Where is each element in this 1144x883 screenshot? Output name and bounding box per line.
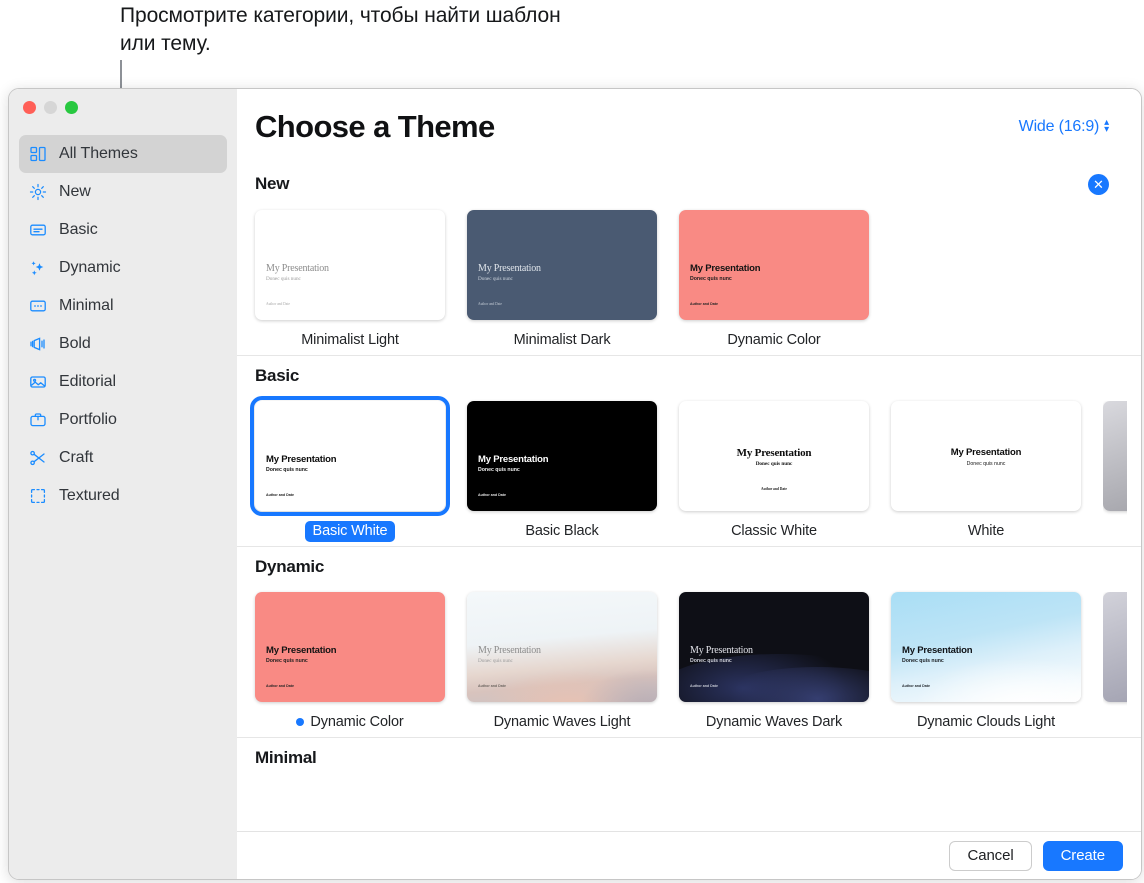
section-header-basic: Basic: [237, 355, 1141, 395]
theme-caption: White: [891, 520, 1081, 542]
slide-subtitle: Donec quis nunc: [891, 461, 1081, 467]
sidebar-item-portfolio[interactable]: Portfolio: [19, 401, 227, 439]
slide-title: My Presentation: [891, 447, 1081, 458]
sidebar-item-bold[interactable]: Bold: [19, 325, 227, 363]
theme-caption: Dynamic Waves Light: [467, 711, 657, 733]
sidebar-item-label: Craft: [59, 449, 93, 467]
theme-label: Dynamic Waves Dark: [706, 714, 842, 730]
sidebar-item-textured[interactable]: Textured: [19, 477, 227, 515]
slide-footer: Author and Date: [679, 487, 869, 491]
theme-card-partial[interactable]: [1103, 401, 1127, 542]
theme-thumbnail[interactable]: My Presentation Donec quis nunc Author a…: [679, 210, 869, 320]
theme-card[interactable]: My Presentation Donec quis nunc Author a…: [255, 210, 445, 351]
slide-title: My Presentation: [266, 263, 329, 274]
sidebar-item-label: Minimal: [59, 297, 113, 315]
section-title: Minimal: [255, 748, 317, 768]
crop-frame-icon: [28, 486, 48, 506]
section-header-dynamic: Dynamic: [237, 546, 1141, 586]
slide-subtitle: Donec quis nunc: [902, 658, 944, 664]
slide-footer: Author and Date: [891, 487, 1081, 491]
theme-label: Classic White: [731, 523, 817, 539]
slide-subtitle: Donec quis nunc: [266, 276, 301, 282]
cancel-button[interactable]: Cancel: [949, 841, 1031, 871]
sidebar-item-new[interactable]: New: [19, 173, 227, 211]
close-icon[interactable]: ✕: [1088, 174, 1109, 195]
dialog-footer: Cancel Create: [237, 831, 1141, 879]
slide-title: My Presentation: [478, 263, 541, 274]
theme-thumbnail[interactable]: My Presentation Donec quis nunc Author a…: [891, 592, 1081, 702]
theme-caption: Dynamic Color: [255, 711, 445, 733]
slide-title: My Presentation: [690, 645, 753, 656]
sidebar-item-label: Basic: [59, 221, 98, 239]
theme-label: Dynamic Waves Light: [494, 714, 631, 730]
slide-title: My Presentation: [690, 263, 760, 274]
theme-label-selected: Basic White: [305, 521, 396, 542]
sidebar-item-label: All Themes: [59, 145, 138, 163]
slide-footer: Author and Date: [266, 684, 294, 688]
theme-label: Dynamic Color: [310, 714, 403, 730]
aspect-ratio-value: Wide (16:9): [1019, 118, 1100, 136]
briefcase-icon: [28, 410, 48, 430]
theme-card[interactable]: My Presentation Donec quis nunc Author a…: [679, 210, 869, 351]
zoom-window-button[interactable]: [65, 101, 78, 114]
chevron-updown-icon: ▴▾: [1104, 120, 1109, 132]
section-header-new: New ✕: [237, 164, 1141, 204]
slide-subtitle: Donec quis nunc: [690, 658, 732, 664]
theme-scroll-area[interactable]: New ✕ My Presentation Donec quis nunc Au…: [237, 164, 1141, 831]
theme-label: Minimalist Light: [301, 332, 399, 348]
section-title: New: [255, 174, 289, 194]
sidebar: All Themes New Basic: [9, 89, 237, 879]
slide-title: My Presentation: [478, 645, 541, 656]
theme-caption: Basic Black: [467, 520, 657, 542]
slide-footer: Author and Date: [478, 493, 506, 497]
wave-decoration-2: [553, 649, 658, 702]
create-button[interactable]: Create: [1043, 841, 1123, 871]
theme-row-basic: My Presentation Donec quis nunc Author a…: [237, 395, 1141, 546]
theme-row-dynamic: My Presentation Donec quis nunc Author a…: [237, 586, 1141, 737]
slide-footer: Author and Date: [690, 302, 718, 306]
theme-card[interactable]: My Presentation Donec quis nunc Author a…: [679, 592, 869, 733]
sidebar-item-label: Dynamic: [59, 259, 121, 277]
slide-footer: Author and Date: [266, 493, 294, 497]
theme-thumbnail[interactable]: [1103, 401, 1127, 511]
callout-text: Просмотрите категории, чтобы найти шабло…: [120, 2, 590, 59]
theme-caption: Minimalist Dark: [467, 329, 657, 351]
theme-card[interactable]: My Presentation Donec quis nunc Author a…: [467, 592, 657, 733]
slide-subtitle: Donec quis nunc: [679, 461, 869, 467]
section-title: Dynamic: [255, 557, 324, 577]
theme-label: Dynamic Clouds Light: [917, 714, 1055, 730]
sidebar-item-editorial[interactable]: Editorial: [19, 363, 227, 401]
theme-caption: Dynamic Waves Dark: [679, 711, 869, 733]
slide-subtitle: Donec quis nunc: [478, 658, 513, 664]
theme-card[interactable]: My Presentation Donec quis nunc Author a…: [891, 401, 1081, 542]
slide-footer: Author and Date: [902, 684, 930, 688]
theme-thumbnail[interactable]: My Presentation Donec quis nunc Author a…: [467, 210, 657, 320]
theme-card[interactable]: My Presentation Donec quis nunc Author a…: [679, 401, 869, 542]
sidebar-item-label: Bold: [59, 335, 91, 353]
theme-label: White: [968, 523, 1004, 539]
theme-caption: Dynamic Color: [679, 329, 869, 351]
sparkles-icon: [28, 258, 48, 278]
photo-icon: [28, 372, 48, 392]
page-title: Choose a Theme: [255, 109, 495, 145]
sidebar-item-label: New: [59, 183, 91, 201]
sidebar-item-basic[interactable]: Basic: [19, 211, 227, 249]
theme-thumbnail[interactable]: My Presentation Donec quis nunc Author a…: [679, 592, 869, 702]
theme-label: Dynamic Color: [727, 332, 820, 348]
theme-thumbnail[interactable]: My Presentation Donec quis nunc Author a…: [679, 401, 869, 511]
rectangle-lines-icon: [28, 220, 48, 240]
scissors-icon: [28, 448, 48, 468]
sidebar-item-label: Portfolio: [59, 411, 117, 429]
theme-label: Minimalist Dark: [514, 332, 611, 348]
theme-card[interactable]: My Presentation Donec quis nunc Author a…: [255, 401, 445, 542]
theme-thumbnail[interactable]: My Presentation Donec quis nunc Author a…: [467, 592, 657, 702]
theme-browser: Choose a Theme Wide (16:9) ▴▾ New ✕ My P…: [237, 89, 1141, 879]
theme-card[interactable]: My Presentation Donec quis nunc Author a…: [891, 592, 1081, 733]
sidebar-item-minimal[interactable]: Minimal: [19, 287, 227, 325]
sidebar-item-label: Editorial: [59, 373, 116, 391]
slide-title: My Presentation: [679, 447, 869, 459]
slide-subtitle: Donec quis nunc: [690, 276, 732, 282]
theme-thumbnail[interactable]: My Presentation Donec quis nunc Author a…: [255, 592, 445, 702]
theme-caption: Classic White: [679, 520, 869, 542]
slide-subtitle: Donec quis nunc: [266, 467, 308, 473]
theme-thumbnail[interactable]: [1103, 592, 1127, 702]
sidebar-item-all-themes[interactable]: All Themes: [19, 135, 227, 173]
rectangle-dots-icon: [28, 296, 48, 316]
theme-card[interactable]: My Presentation Donec quis nunc Author a…: [467, 210, 657, 351]
theme-card[interactable]: My Presentation Donec quis nunc Author a…: [255, 592, 445, 733]
sidebar-item-label: Textured: [59, 487, 120, 505]
slide-title: My Presentation: [266, 454, 336, 465]
theme-thumbnail[interactable]: My Presentation Donec quis nunc Author a…: [891, 401, 1081, 511]
sidebar-item-craft[interactable]: Craft: [19, 439, 227, 477]
aspect-ratio-selector[interactable]: Wide (16:9) ▴▾: [1019, 118, 1109, 136]
theme-card-partial[interactable]: [1103, 592, 1127, 733]
theme-caption: Minimalist Light: [255, 329, 445, 351]
slide-subtitle: Donec quis nunc: [266, 658, 308, 664]
theme-card[interactable]: My Presentation Donec quis nunc Author a…: [467, 401, 657, 542]
theme-chooser-window: All Themes New Basic: [8, 88, 1142, 880]
slide-footer: Author and Date: [690, 684, 718, 688]
slide-subtitle: Donec quis nunc: [478, 467, 520, 473]
close-window-button[interactable]: [23, 101, 36, 114]
current-theme-dot-icon: [296, 718, 304, 726]
theme-thumbnail[interactable]: My Presentation Donec quis nunc Author a…: [467, 401, 657, 511]
theme-caption: Basic White: [255, 520, 445, 542]
slide-footer: Author and Date: [478, 302, 502, 306]
slide-title: My Presentation: [478, 454, 548, 465]
section-title: Basic: [255, 366, 299, 386]
sidebar-item-dynamic[interactable]: Dynamic: [19, 249, 227, 287]
section-header-minimal: Minimal: [237, 737, 1141, 777]
megaphone-icon: [28, 334, 48, 354]
theme-thumbnail[interactable]: My Presentation Donec quis nunc Author a…: [255, 401, 445, 511]
slide-footer: Author and Date: [266, 302, 290, 306]
minimize-window-button[interactable]: [44, 101, 57, 114]
theme-thumbnail[interactable]: My Presentation Donec quis nunc Author a…: [255, 210, 445, 320]
main-header: Choose a Theme Wide (16:9) ▴▾: [237, 89, 1141, 164]
window-traffic-lights: [23, 101, 78, 114]
slide-footer: Author and Date: [478, 684, 506, 688]
slide-subtitle: Donec quis nunc: [478, 276, 513, 282]
theme-caption: Dynamic Clouds Light: [891, 711, 1081, 733]
slide-title: My Presentation: [902, 645, 972, 656]
theme-label: Basic Black: [525, 523, 598, 539]
theme-row-new: My Presentation Donec quis nunc Author a…: [237, 204, 1141, 355]
slide-title: My Presentation: [266, 645, 336, 656]
grid-icon: [28, 144, 48, 164]
sparkle-burst-icon: [28, 182, 48, 202]
